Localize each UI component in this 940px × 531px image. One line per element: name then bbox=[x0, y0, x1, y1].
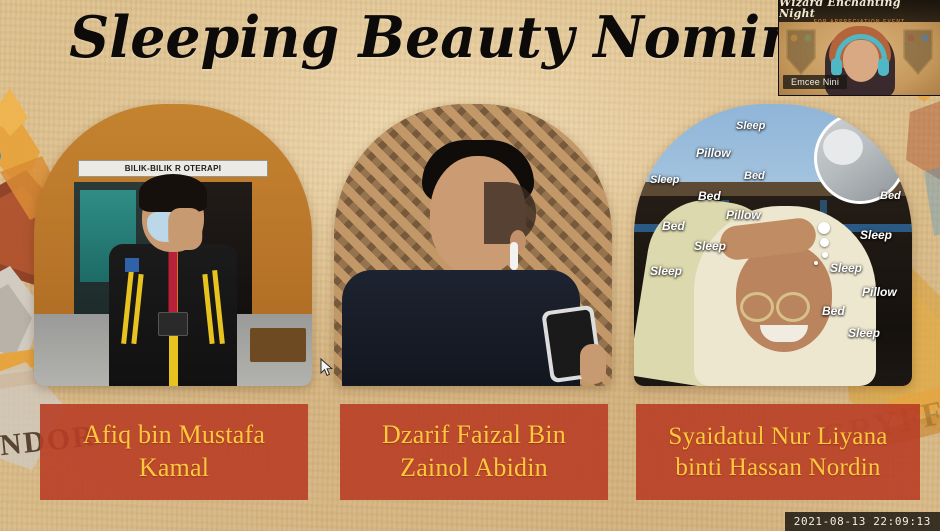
sleep-word: Pillow bbox=[862, 285, 897, 299]
photo1-logo bbox=[125, 258, 139, 272]
headphone-cup-right bbox=[878, 58, 889, 76]
sleep-word: Pillow bbox=[726, 208, 761, 222]
sleep-word: Bed bbox=[662, 219, 685, 233]
recording-timestamp: 2021-08-13 22:09:13 bbox=[785, 512, 940, 531]
webcam-event-banner: Wizard Enchanting Night FOR APPRECIATION… bbox=[779, 0, 940, 22]
nominee-caption-1: Afiq bin Mustafa Kamal bbox=[40, 404, 308, 500]
sleep-word: Bed bbox=[822, 304, 845, 318]
sleep-word: Bed bbox=[880, 190, 901, 202]
headphone-cup-left bbox=[831, 58, 842, 76]
photo1-bench bbox=[250, 328, 306, 362]
nominee-photo-2 bbox=[334, 104, 612, 386]
nominee-name-2: Dzarif Faizal Bin Zainol Abidin bbox=[350, 419, 598, 485]
hogwarts-crest-icon-left bbox=[783, 26, 819, 78]
photo2-hand bbox=[580, 344, 606, 384]
sleep-word: Pillow bbox=[696, 146, 731, 160]
presentation-slide: INDOR GRYFF Sleeping Beauty Nominee BILI… bbox=[0, 0, 940, 531]
sleep-word: Sleep bbox=[848, 326, 880, 340]
photo2-earbud bbox=[510, 242, 518, 270]
photo1-person-hair bbox=[139, 174, 207, 212]
sleep-word: Sleep bbox=[650, 174, 679, 186]
event-title: Wizard Enchanting Night bbox=[779, 0, 940, 19]
thought-bubble-dot bbox=[814, 261, 818, 265]
mouse-pointer-icon bbox=[320, 358, 333, 377]
photo3-glasses-right bbox=[776, 292, 810, 322]
photo3-glasses-left bbox=[740, 292, 774, 322]
photo1-lanyard bbox=[169, 246, 178, 316]
participant-name-label: Emcee Nini bbox=[783, 75, 847, 89]
nominee-caption-3: Syaidatul Nur Liyana binti Hassan Nordin bbox=[636, 404, 920, 500]
photo1-stripe-c bbox=[212, 270, 225, 344]
sleep-word: Sleep bbox=[736, 120, 765, 132]
nominee-name-3: Syaidatul Nur Liyana binti Hassan Nordin bbox=[646, 421, 910, 484]
sleep-word: Sleep bbox=[694, 239, 726, 253]
nominee-caption-2: Dzarif Faizal Bin Zainol Abidin bbox=[340, 404, 608, 500]
hogwarts-crest-icon-right bbox=[900, 26, 936, 78]
nominee-photo-1: BILIK-BILIK R OTERAPI bbox=[34, 104, 312, 386]
photo1-stripe-b bbox=[131, 274, 143, 344]
webcam-participant-tile[interactable]: Wizard Enchanting Night FOR APPRECIATION… bbox=[778, 0, 940, 96]
event-subtitle: FOR APPRECIATION EVENT bbox=[814, 19, 905, 26]
nominee-name-1: Afiq bin Mustafa Kamal bbox=[50, 419, 298, 485]
sleep-word: Sleep bbox=[860, 228, 892, 242]
sleep-word: Sleep bbox=[650, 264, 682, 278]
sleep-word: Bed bbox=[744, 170, 765, 182]
sleep-word: Sleep bbox=[830, 261, 862, 275]
nominee-photo-3: SleepPillowBedSleepBedBedPillowBedSleepS… bbox=[634, 104, 912, 386]
thought-bubble-dot bbox=[820, 238, 829, 247]
photo1-id-badge bbox=[158, 312, 188, 336]
sleep-word: Bed bbox=[698, 189, 721, 203]
thought-bubble-dot bbox=[822, 252, 828, 258]
thought-bubble-dot bbox=[818, 222, 830, 234]
photo1-person-hand bbox=[168, 208, 202, 250]
